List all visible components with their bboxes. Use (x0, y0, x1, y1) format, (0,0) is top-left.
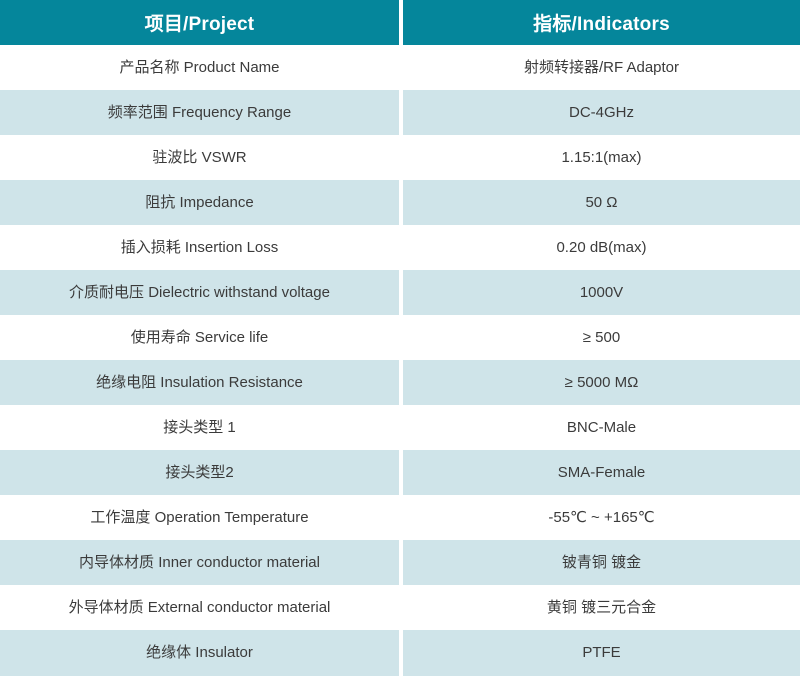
cell-indicator: 射频转接器/RF Adaptor (403, 45, 800, 90)
cell-indicator: 1.15:1(max) (403, 135, 800, 180)
table-row: 阻抗 Impedance50 Ω (0, 180, 800, 225)
table-row: 接头类型 1BNC-Male (0, 405, 800, 450)
table-row: 使用寿命 Service life≥ 500 (0, 315, 800, 360)
cell-project: 外导体材质 External conductor material (0, 585, 403, 630)
cell-project: 接头类型 1 (0, 405, 403, 450)
table-row: 内导体材质 Inner conductor material铍青铜 镀金 (0, 540, 800, 585)
table-header: 项目/Project 指标/Indicators (0, 0, 800, 45)
cell-project: 使用寿命 Service life (0, 315, 403, 360)
table-body: 产品名称 Product Name射频转接器/RF Adaptor频率范围 Fr… (0, 45, 800, 676)
cell-indicator: 50 Ω (403, 180, 800, 225)
cell-project: 频率范围 Frequency Range (0, 90, 403, 135)
cell-project: 阻抗 Impedance (0, 180, 403, 225)
table-row: 接头类型2SMA-Female (0, 450, 800, 495)
table-row: 工作温度 Operation Temperature-55℃ ~ +165℃ (0, 495, 800, 540)
cell-indicator: BNC-Male (403, 405, 800, 450)
cell-project: 工作温度 Operation Temperature (0, 495, 403, 540)
table-row: 外导体材质 External conductor material黄铜 镀三元合… (0, 585, 800, 630)
cell-project: 驻波比 VSWR (0, 135, 403, 180)
cell-indicator: 黄铜 镀三元合金 (403, 585, 800, 630)
column-header-indicators: 指标/Indicators (403, 0, 800, 45)
table-row: 插入损耗 Insertion Loss0.20 dB(max) (0, 225, 800, 270)
cell-indicator: SMA-Female (403, 450, 800, 495)
table-row: 频率范围 Frequency RangeDC-4GHz (0, 90, 800, 135)
table-row: 驻波比 VSWR1.15:1(max) (0, 135, 800, 180)
cell-project: 绝缘电阻 Insulation Resistance (0, 360, 403, 405)
cell-project: 内导体材质 Inner conductor material (0, 540, 403, 585)
cell-indicator: 铍青铜 镀金 (403, 540, 800, 585)
cell-indicator: 1000V (403, 270, 800, 315)
table-row: 产品名称 Product Name射频转接器/RF Adaptor (0, 45, 800, 90)
cell-project: 介质耐电压 Dielectric withstand voltage (0, 270, 403, 315)
cell-indicator: ≥ 500 (403, 315, 800, 360)
cell-project: 产品名称 Product Name (0, 45, 403, 90)
cell-indicator: PTFE (403, 630, 800, 676)
table-row: 介质耐电压 Dielectric withstand voltage1000V (0, 270, 800, 315)
table-row: 绝缘电阻 Insulation Resistance≥ 5000 MΩ (0, 360, 800, 405)
cell-indicator: -55℃ ~ +165℃ (403, 495, 800, 540)
cell-indicator: 0.20 dB(max) (403, 225, 800, 270)
cell-indicator: DC-4GHz (403, 90, 800, 135)
table-row: 绝缘体 InsulatorPTFE (0, 630, 800, 676)
table-header-row: 项目/Project 指标/Indicators (0, 0, 800, 45)
cell-project: 绝缘体 Insulator (0, 630, 403, 676)
column-header-project: 项目/Project (0, 0, 403, 45)
cell-project: 接头类型2 (0, 450, 403, 495)
cell-project: 插入损耗 Insertion Loss (0, 225, 403, 270)
cell-indicator: ≥ 5000 MΩ (403, 360, 800, 405)
specification-table: 项目/Project 指标/Indicators 产品名称 Product Na… (0, 0, 800, 676)
